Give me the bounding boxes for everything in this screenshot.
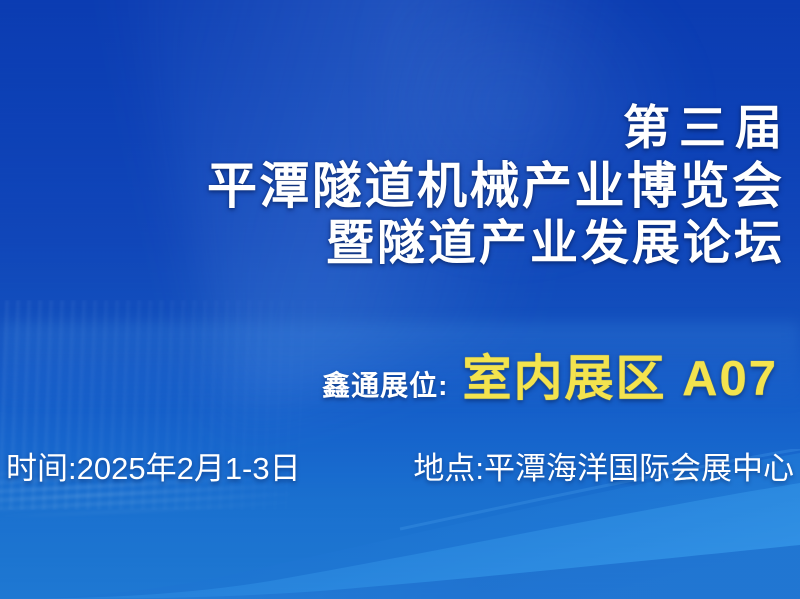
booth-label: 鑫通展位: bbox=[322, 364, 448, 404]
exhibition-banner: 第三届 平潭隧道机械产业博览会 暨隧道产业发展论坛 鑫通展位: 室内展区 A07… bbox=[0, 0, 800, 599]
banner-content: 第三届 平潭隧道机械产业博览会 暨隧道产业发展论坛 鑫通展位: 室内展区 A07… bbox=[0, 0, 800, 599]
event-venue: 地点:平潭海洋国际会展中心 bbox=[413, 443, 794, 488]
event-title-block: 第三届 平潭隧道机械产业博览会 暨隧道产业发展论坛 bbox=[207, 104, 782, 268]
event-title-main: 平潭隧道机械产业博览会 bbox=[207, 161, 785, 211]
event-date: 时间:2025年2月1-3日 bbox=[6, 443, 301, 488]
event-footer-info: 时间:2025年2月1-3日 地点:平潭海洋国际会展中心 bbox=[6, 443, 794, 488]
booth-number: 室内展区 A07 bbox=[462, 339, 778, 410]
event-title-sub: 暨隧道产业发展论坛 bbox=[207, 220, 785, 268]
booth-row: 鑫通展位: 室内展区 A07 bbox=[322, 339, 778, 410]
event-edition: 第三届 bbox=[207, 104, 791, 151]
